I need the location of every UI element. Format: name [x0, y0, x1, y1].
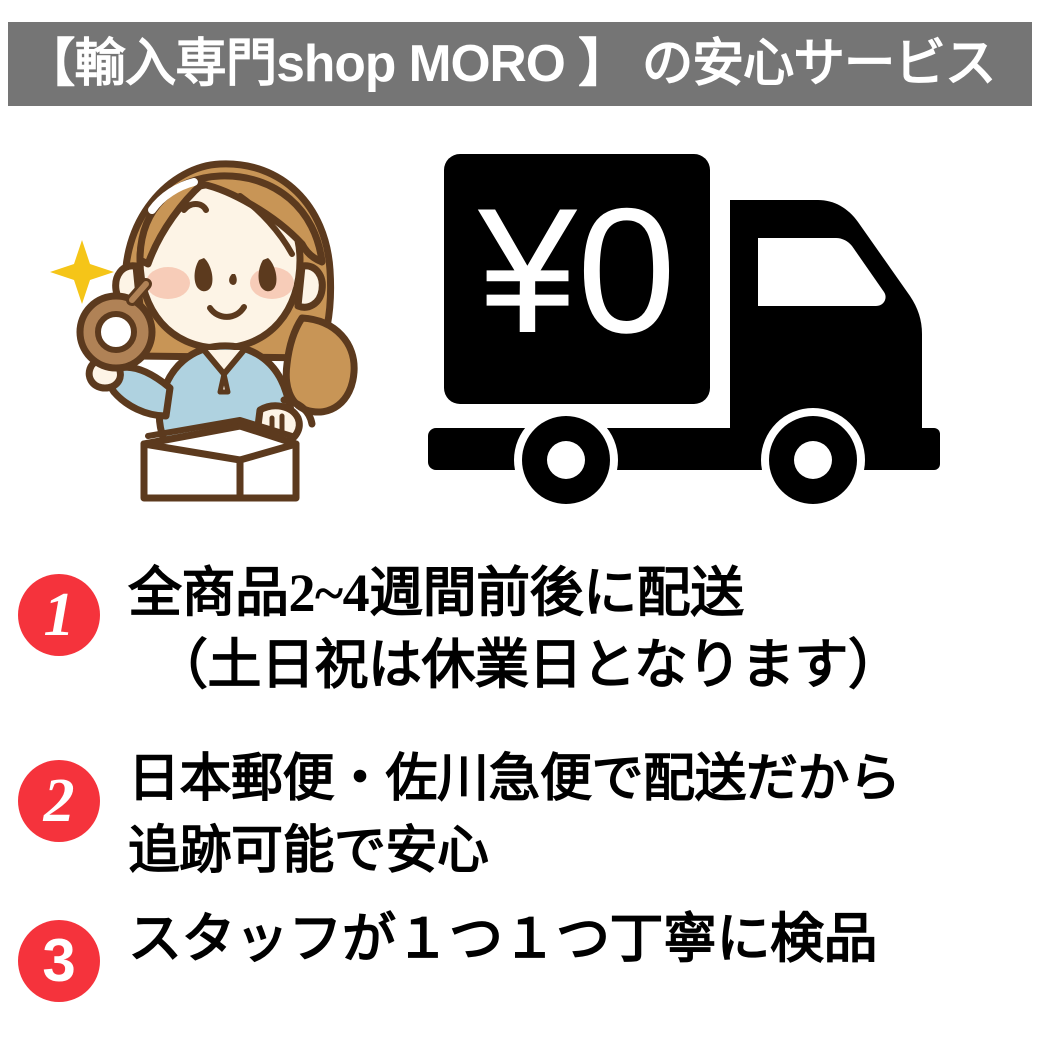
point-line: 追跡可能で安心	[128, 816, 1040, 888]
point-text-1: 全商品2~4週間前後に配送 （土日祝は休業日となります）	[128, 558, 1040, 702]
point-text-2: 日本郵便・佐川急便で配送だから 追跡可能で安心	[128, 744, 1040, 888]
point-line: 全商品2~4週間前後に配送	[128, 558, 1040, 630]
point-number-badge-2: 2	[18, 760, 100, 842]
point-line: 日本郵便・佐川急便で配送だから	[128, 744, 1040, 816]
illustration-band: ¥0	[0, 120, 1040, 540]
point-number-badge-1: 1	[18, 574, 100, 656]
point-line: スタッフが１つ１つ丁寧に検品	[128, 904, 1040, 976]
list-item: 3 スタッフが１つ１つ丁寧に検品	[0, 904, 1040, 1002]
header-banner: 【輸入専門shop MORO 】 の安心サービス	[8, 22, 1032, 106]
point-line: （土日祝は休業日となります）	[128, 630, 1040, 702]
point-text-3: スタッフが１つ１つ丁寧に検品	[128, 904, 1040, 976]
point-number-badge-3: 3	[18, 920, 100, 1002]
list-item: 2 日本郵便・佐川急便で配送だから 追跡可能で安心	[0, 744, 1040, 888]
woman-inspecting-package-illustration	[44, 148, 384, 508]
list-item: 1 全商品2~4週間前後に配送 （土日祝は休業日となります）	[0, 558, 1040, 702]
page-title: 【輸入専門shop MORO 】 の安心サービス	[8, 38, 995, 90]
truck-price-label: ¥0	[477, 171, 676, 370]
delivery-truck-icon: ¥0	[418, 142, 1008, 517]
